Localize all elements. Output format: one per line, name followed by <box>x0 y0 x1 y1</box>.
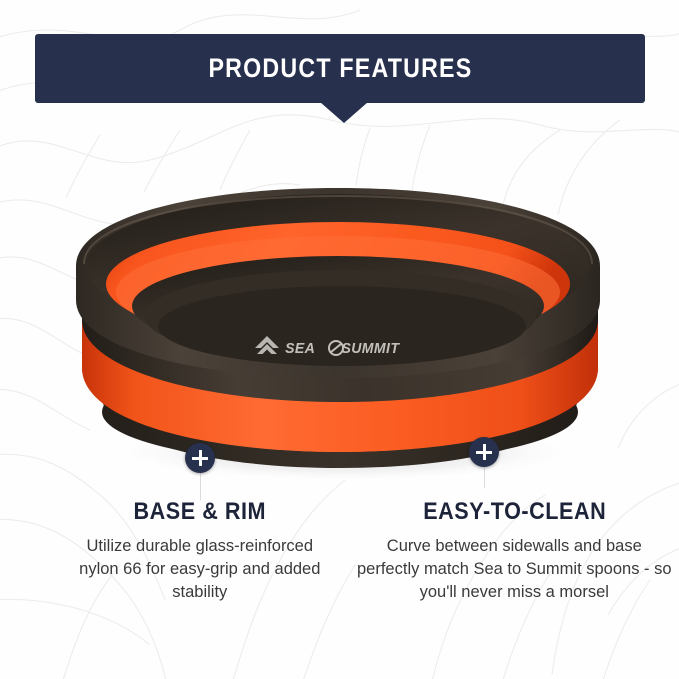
product-features-infographic: PRODUCT FEATURES <box>0 0 679 679</box>
connector-line-easy-clean <box>484 466 485 488</box>
feature-list: BASE & RIM Utilize durable glass-reinfor… <box>0 498 679 604</box>
product-bowl-image: SEA SUMMIT <box>60 180 620 480</box>
feature-base-rim: BASE & RIM Utilize durable glass-reinfor… <box>50 498 350 604</box>
feature-easy-to-clean: EASY-TO-CLEAN Curve between sidewalls an… <box>350 498 679 604</box>
header-pointer-triangle <box>320 102 368 123</box>
hotspot-plus-base-rim[interactable] <box>185 443 215 473</box>
connector-line-base-rim <box>200 472 201 500</box>
header-banner: PRODUCT FEATURES <box>35 34 645 103</box>
hotspot-plus-easy-clean[interactable] <box>469 437 499 467</box>
svg-text:SUMMIT: SUMMIT <box>341 341 400 357</box>
feature-body-base-rim: Utilize durable glass-reinforced nylon 6… <box>78 535 322 604</box>
feature-title-base-rim: BASE & RIM <box>90 498 309 526</box>
svg-text:SEA: SEA <box>285 341 315 357</box>
feature-title-easy-to-clean: EASY-TO-CLEAN <box>371 498 657 526</box>
feature-body-easy-to-clean: Curve between sidewalls and base perfect… <box>356 535 673 604</box>
page-title: PRODUCT FEATURES <box>208 53 472 84</box>
